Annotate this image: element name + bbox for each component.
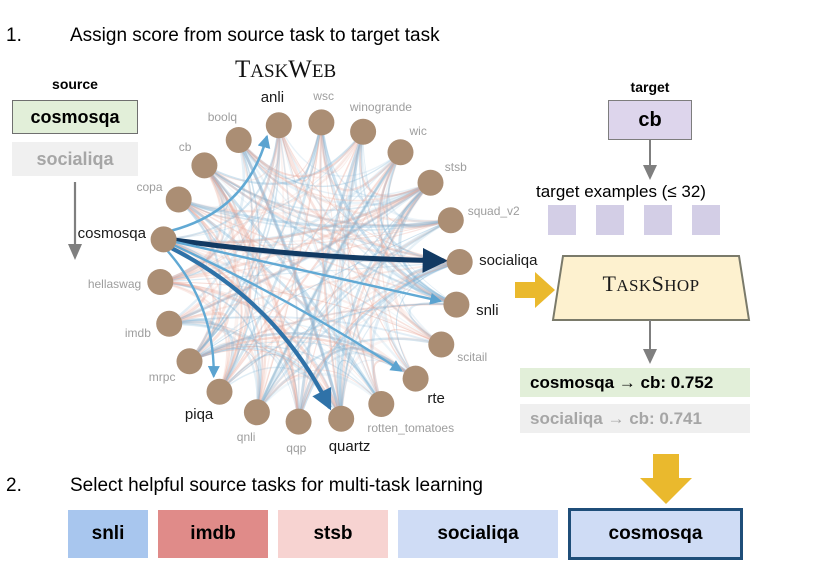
taskweb-node-label-piqa: piqa [185, 407, 213, 422]
task-chip-label: snli [92, 523, 125, 545]
selected-tasks-row: snliimdbstsbsocialiqacosmosqa [68, 508, 743, 560]
taskweb-node-label-qqp: qqp [286, 442, 306, 454]
task-chip-socialiqa[interactable]: socialiqa [398, 510, 558, 558]
taskweb-node-label-winogrande: winogrande [350, 101, 412, 113]
taskweb-title-t: T [235, 56, 250, 83]
taskweb-node-label-rotten_tomatoes: rotten_tomatoes [367, 422, 454, 434]
score-row-cosmosqa: cosmosqa → cb: 0.752 [520, 368, 750, 397]
task-chip-label: cosmosqa [609, 523, 703, 545]
step-1-number: 1. [6, 26, 22, 45]
target-example-swatch [644, 205, 672, 235]
taskweb-title-ask: ASK [250, 61, 288, 82]
step-2-title: Select helpful source tasks for multi-ta… [70, 476, 483, 495]
target-example-swatch [692, 205, 720, 235]
target-examples-caption: target examples (≤ 32) [536, 182, 706, 202]
task-chip-label: stsb [313, 523, 352, 545]
task-chip-imdb[interactable]: imdb [158, 510, 268, 558]
taskweb-node-label-qnli: qnli [237, 431, 256, 443]
taskshop-shape [551, 254, 751, 322]
taskshop-module[interactable]: TASKSHOP [551, 254, 751, 322]
task-chip-label: imdb [190, 523, 235, 545]
task-chip-stsb[interactable]: stsb [278, 510, 388, 558]
task-chip-label: socialiqa [437, 523, 518, 545]
taskweb-node-label-snli: snli [476, 303, 499, 318]
task-chip-snli[interactable]: snli [68, 510, 148, 558]
score-list: cosmosqa → cb: 0.752socialiqa → cb: 0.74… [520, 368, 750, 433]
taskweb-node-label-boolq: boolq [208, 111, 237, 123]
taskweb-node-label-cosmosqa: cosmosqa [78, 226, 146, 241]
score-row-text: cosmosqa → cb: 0.752 [530, 373, 713, 393]
taskweb-node-label-hellaswag: hellaswag [88, 278, 141, 290]
task-chip-cosmosqa[interactable]: cosmosqa [568, 508, 743, 560]
taskweb-node-label-scitail: scitail [457, 351, 487, 363]
score-row-text: socialiqa → cb: 0.741 [530, 409, 702, 429]
taskweb-node-label-anli: anli [261, 90, 284, 105]
source-to-graph-arrow [58, 182, 92, 264]
score-row-socialiqa: socialiqa → cb: 0.741 [520, 404, 750, 433]
target-column-label: target [608, 79, 692, 95]
target-example-swatch [548, 205, 576, 235]
taskweb-node-labels: anliwscwinograndewicstsbsquad_v2socialiq… [110, 82, 510, 462]
taskweb-node-label-rte: rte [427, 391, 445, 406]
taskweb-node-label-squad_v2: squad_v2 [468, 205, 520, 217]
target-examples-row [548, 205, 720, 235]
target-to-examples-arrow [633, 140, 667, 182]
target-example-swatch [596, 205, 624, 235]
taskweb-node-label-socialiqa: socialiqa [479, 253, 537, 268]
step-transition-down-arrow [638, 454, 696, 506]
taskshop-to-scores-arrow [633, 320, 667, 366]
taskweb-node-label-mrpc: mrpc [149, 371, 176, 383]
taskweb-node-label-quartz: quartz [329, 439, 371, 454]
taskweb-node-label-wic: wic [410, 125, 427, 137]
source-task-cosmosqa-label: cosmosqa [30, 107, 119, 128]
taskweb-title-w: W [288, 56, 312, 83]
taskweb-title: TASKWEB [235, 57, 336, 82]
step-2-number: 2. [6, 476, 22, 495]
source-task-socialiqa-label: socialiqa [36, 149, 113, 170]
taskweb-node-label-wsc: wsc [313, 90, 334, 102]
taskweb-title-eb: EB [312, 61, 336, 82]
taskweb-graph[interactable]: anliwscwinograndewicstsbsquad_v2socialiq… [110, 82, 510, 462]
target-task-cb[interactable]: cb [608, 100, 692, 140]
taskweb-node-label-copa: copa [137, 181, 163, 193]
target-task-cb-label: cb [638, 109, 661, 132]
taskweb-node-label-stsb: stsb [445, 161, 467, 173]
step-1-title: Assign score from source task to target … [70, 26, 440, 45]
taskweb-node-label-cb: cb [179, 141, 192, 153]
taskweb-node-label-imdb: imdb [125, 327, 151, 339]
